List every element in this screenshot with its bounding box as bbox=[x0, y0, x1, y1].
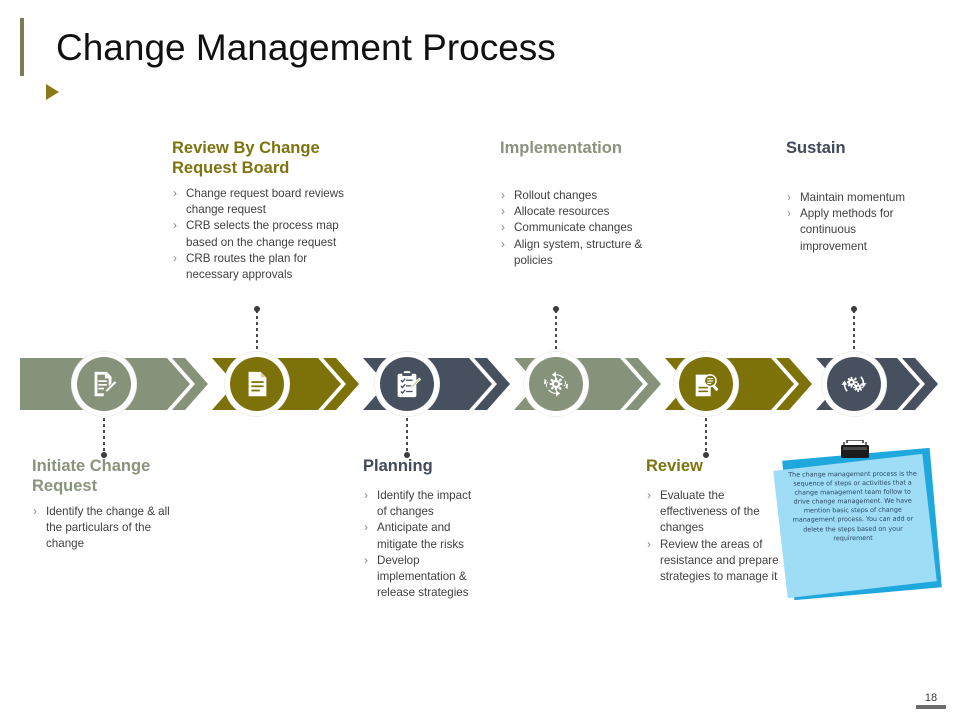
connector-dot-node2 bbox=[254, 306, 260, 312]
list-item: Maintain momentum bbox=[786, 190, 926, 206]
page-number-value: 18 bbox=[925, 692, 937, 704]
gear-cycle-icon bbox=[541, 369, 571, 399]
sticky-note-text: The change management process is the seq… bbox=[787, 470, 918, 544]
connector-line-node6 bbox=[853, 310, 855, 358]
list-item: Communicate changes bbox=[500, 220, 680, 236]
step-block-initiate-change-request: Initiate Change Request Identify the cha… bbox=[32, 456, 182, 553]
list-item: Develop implementation & release strateg… bbox=[363, 553, 475, 602]
step-bullet-list: Rollout changes Allocate resources Commu… bbox=[500, 188, 680, 269]
page-title: Change Management Process bbox=[56, 26, 556, 70]
step-block-sustain: Sustain Maintain momentum Apply methods … bbox=[786, 138, 926, 255]
sticky-note: The change management process is the seq… bbox=[778, 440, 958, 610]
document-icon bbox=[242, 369, 272, 399]
page-number-underline bbox=[916, 705, 946, 709]
step-block-review-by-change-request-board: Review By Change Request Board Change re… bbox=[172, 138, 358, 283]
step-block-planning: Planning Identify the impact of changes … bbox=[363, 456, 475, 601]
step-bullet-list: Maintain momentum Apply methods for cont… bbox=[786, 190, 926, 255]
list-item: Align system, structure & policies bbox=[500, 237, 680, 269]
step-bullet-list: Identify the impact of changes Anticipat… bbox=[363, 488, 475, 601]
arrow-band-svg bbox=[0, 358, 960, 410]
gears-refresh-icon bbox=[839, 369, 869, 399]
process-arrow-band bbox=[0, 358, 960, 410]
connector-line-node1 bbox=[103, 412, 105, 454]
document-magnifier-icon bbox=[691, 369, 721, 399]
list-item: Change request board reviews change requ… bbox=[172, 186, 358, 218]
connector-line-node3 bbox=[406, 412, 408, 454]
step-bullet-list: Evaluate the effectiveness of the change… bbox=[646, 488, 782, 585]
clipboard-checklist-icon bbox=[392, 369, 422, 399]
process-node-6-sustain[interactable] bbox=[827, 357, 881, 411]
list-item: Allocate resources bbox=[500, 204, 680, 220]
step-heading: Initiate Change Request bbox=[32, 456, 182, 496]
list-item: Review the areas of resistance and prepa… bbox=[646, 537, 782, 586]
list-item: Apply methods for continuous improvement bbox=[786, 206, 926, 255]
list-item: CRB routes the plan for necessary approv… bbox=[172, 251, 358, 283]
connector-dot-node6 bbox=[851, 306, 857, 312]
step-block-implementation: Implementation Rollout changes Allocate … bbox=[500, 138, 680, 269]
connector-line-node5 bbox=[705, 412, 707, 454]
binder-clip-icon bbox=[838, 440, 872, 470]
process-node-2-review-by-change-request-board[interactable] bbox=[230, 357, 284, 411]
process-node-5-review[interactable] bbox=[679, 357, 733, 411]
slide-title-bar: Change Management Process bbox=[20, 18, 660, 80]
list-item: Rollout changes bbox=[500, 188, 680, 204]
sticky-note-paper: The change management process is the seq… bbox=[773, 454, 937, 598]
step-heading: Planning bbox=[363, 456, 475, 476]
page-number: 18 bbox=[914, 692, 948, 704]
slide-root: Change Management Process Review By Chan… bbox=[0, 0, 960, 720]
step-heading: Review bbox=[646, 456, 782, 476]
step-bullet-list: Identify the change & all the particular… bbox=[32, 504, 182, 553]
list-item: Identify the change & all the particular… bbox=[32, 504, 182, 553]
list-item: Identify the impact of changes bbox=[363, 488, 475, 520]
step-heading: Review By Change Request Board bbox=[172, 138, 358, 178]
step-block-review: Review Evaluate the effectiveness of the… bbox=[646, 456, 782, 585]
process-node-1-initiate-change-request[interactable] bbox=[77, 357, 131, 411]
connector-dot-node4 bbox=[553, 306, 559, 312]
title-triangle-icon bbox=[46, 84, 59, 100]
process-node-3-planning[interactable] bbox=[380, 357, 434, 411]
list-item: CRB selects the process map based on the… bbox=[172, 218, 358, 250]
connector-line-node4 bbox=[555, 310, 557, 358]
process-node-4-implementation[interactable] bbox=[529, 357, 583, 411]
list-item: Evaluate the effectiveness of the change… bbox=[646, 488, 782, 537]
title-accent-bar bbox=[20, 18, 24, 76]
document-pencil-icon bbox=[89, 369, 119, 399]
step-bullet-list: Change request board reviews change requ… bbox=[172, 186, 358, 283]
list-item: Anticipate and mitigate the risks bbox=[363, 520, 475, 552]
step-heading: Implementation bbox=[500, 138, 680, 158]
connector-line-node2 bbox=[256, 310, 258, 358]
step-heading: Sustain bbox=[786, 138, 926, 158]
